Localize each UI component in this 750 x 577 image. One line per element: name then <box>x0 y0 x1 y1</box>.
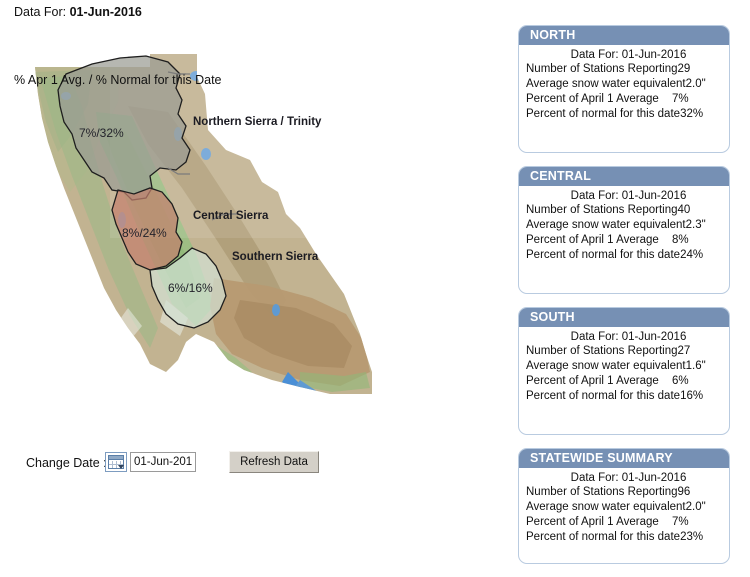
region-percent-southern: 6%/16% <box>168 281 213 295</box>
stat-value: 24% <box>680 248 721 263</box>
summary-panels: NORTH Data For: 01-Jun-2016 Number of St… <box>518 25 730 577</box>
panel-central-row-swe: Average snow water equivalent 2.3" <box>524 218 721 233</box>
panel-north-row-apr1: Percent of April 1 Average 7% <box>524 92 721 107</box>
date-input[interactable] <box>130 452 196 472</box>
panel-south-row-stations: Number of Stations Reporting 27 <box>524 344 721 359</box>
stat-value: 2.0" <box>686 500 721 515</box>
panel-north-title: NORTH <box>519 26 729 45</box>
panel-north-row-normal: Percent of normal for this date 32% <box>524 107 721 122</box>
stat-label: Percent of normal for this date <box>524 389 680 404</box>
panel-statewide-row-swe: Average snow water equivalent 2.0" <box>524 500 721 515</box>
map-legend-title: % Apr 1 Avg. / % Normal for this Date <box>14 73 222 87</box>
panel-spacer <box>524 404 721 422</box>
stat-value: 96 <box>678 485 722 500</box>
panel-south-row-swe: Average snow water equivalent 1.6" <box>524 359 721 374</box>
refresh-data-button[interactable]: Refresh Data <box>229 451 319 473</box>
region-percent-central: 8%/24% <box>122 226 167 240</box>
panel-statewide-summary: STATEWIDE SUMMARY Data For: 01-Jun-2016 … <box>518 448 730 564</box>
map-label-southern-sierra: Southern Sierra <box>232 251 318 263</box>
stat-label: Average snow water equivalent <box>524 218 686 233</box>
panel-statewide-row-apr1: Percent of April 1 Average 7% <box>524 515 721 530</box>
stat-value: 29 <box>678 62 722 77</box>
chevron-down-icon <box>118 465 124 469</box>
map-graphic <box>0 42 420 442</box>
data-for-value: 01-Jun-2016 <box>70 5 142 19</box>
stat-value: 16% <box>680 389 721 404</box>
panel-spacer <box>524 122 721 140</box>
stat-label: Average snow water equivalent <box>524 500 686 515</box>
panel-central-dateline: Data For: 01-Jun-2016 <box>524 189 721 203</box>
panel-central-row-stations: Number of Stations Reporting 40 <box>524 203 721 218</box>
panel-south: SOUTH Data For: 01-Jun-2016 Number of St… <box>518 307 730 435</box>
stat-label: Average snow water equivalent <box>524 359 686 374</box>
stat-label: Percent of normal for this date <box>524 107 680 122</box>
panel-statewide-dateline: Data For: 01-Jun-2016 <box>524 471 721 485</box>
california-snow-map[interactable]: % Apr 1 Avg. / % Normal for this Date <box>0 42 420 437</box>
panel-south-row-normal: Percent of normal for this date 16% <box>524 389 721 404</box>
stat-value: 2.0" <box>686 77 721 92</box>
panel-statewide-row-normal: Percent of normal for this date 23% <box>524 530 721 545</box>
stat-value: 27 <box>678 344 722 359</box>
stat-value: 32% <box>680 107 721 122</box>
panel-north-dateline: Data For: 01-Jun-2016 <box>524 48 721 62</box>
panel-spacer <box>524 263 721 281</box>
stat-value: 40 <box>678 203 722 218</box>
stat-value: 1.6" <box>686 359 721 374</box>
panel-central-row-apr1: Percent of April 1 Average 8% <box>524 233 721 248</box>
panel-north-row-stations: Number of Stations Reporting 29 <box>524 62 721 77</box>
stat-label: Percent of April 1 Average <box>524 92 672 107</box>
panel-spacer <box>524 545 721 551</box>
calendar-icon[interactable] <box>105 452 127 472</box>
stat-label: Number of Stations Reporting <box>524 203 678 218</box>
stat-value: 2.3" <box>686 218 721 233</box>
panel-statewide-row-stations: Number of Stations Reporting 96 <box>524 485 721 500</box>
stat-label: Number of Stations Reporting <box>524 485 678 500</box>
stat-label: Percent of April 1 Average <box>524 374 672 389</box>
stat-label: Average snow water equivalent <box>524 77 686 92</box>
page-date-header: Data For: 01-Jun-2016 <box>14 5 142 19</box>
map-label-central-sierra: Central Sierra <box>193 210 268 222</box>
stat-value: 6% <box>672 374 721 389</box>
region-percent-northern: 7%/32% <box>79 126 124 140</box>
date-controls-bar: Change Date : Refresh Data <box>0 448 420 488</box>
stat-value: 7% <box>672 92 721 107</box>
panel-south-title: SOUTH <box>519 308 729 327</box>
panel-central-title: CENTRAL <box>519 167 729 186</box>
panel-statewide-title: STATEWIDE SUMMARY <box>519 449 729 468</box>
panel-central: CENTRAL Data For: 01-Jun-2016 Number of … <box>518 166 730 294</box>
stat-value: 8% <box>672 233 721 248</box>
panel-central-row-normal: Percent of normal for this date 24% <box>524 248 721 263</box>
panel-north-row-swe: Average snow water equivalent 2.0" <box>524 77 721 92</box>
stat-label: Number of Stations Reporting <box>524 62 678 77</box>
stat-label: Percent of April 1 Average <box>524 233 672 248</box>
stat-label: Percent of normal for this date <box>524 248 680 263</box>
panel-south-dateline: Data For: 01-Jun-2016 <box>524 330 721 344</box>
stat-value: 23% <box>680 530 721 545</box>
stat-label: Number of Stations Reporting <box>524 344 678 359</box>
stat-label: Percent of normal for this date <box>524 530 680 545</box>
stat-value: 7% <box>672 515 721 530</box>
calendar-header-bar <box>109 456 123 460</box>
stat-label: Percent of April 1 Average <box>524 515 672 530</box>
panel-north: NORTH Data For: 01-Jun-2016 Number of St… <box>518 25 730 153</box>
map-label-northern-sierra-trinity: Northern Sierra / Trinity <box>193 116 321 128</box>
data-for-label: Data For: <box>14 5 66 19</box>
change-date-label: Change Date : <box>26 456 107 470</box>
panel-south-row-apr1: Percent of April 1 Average 6% <box>524 374 721 389</box>
